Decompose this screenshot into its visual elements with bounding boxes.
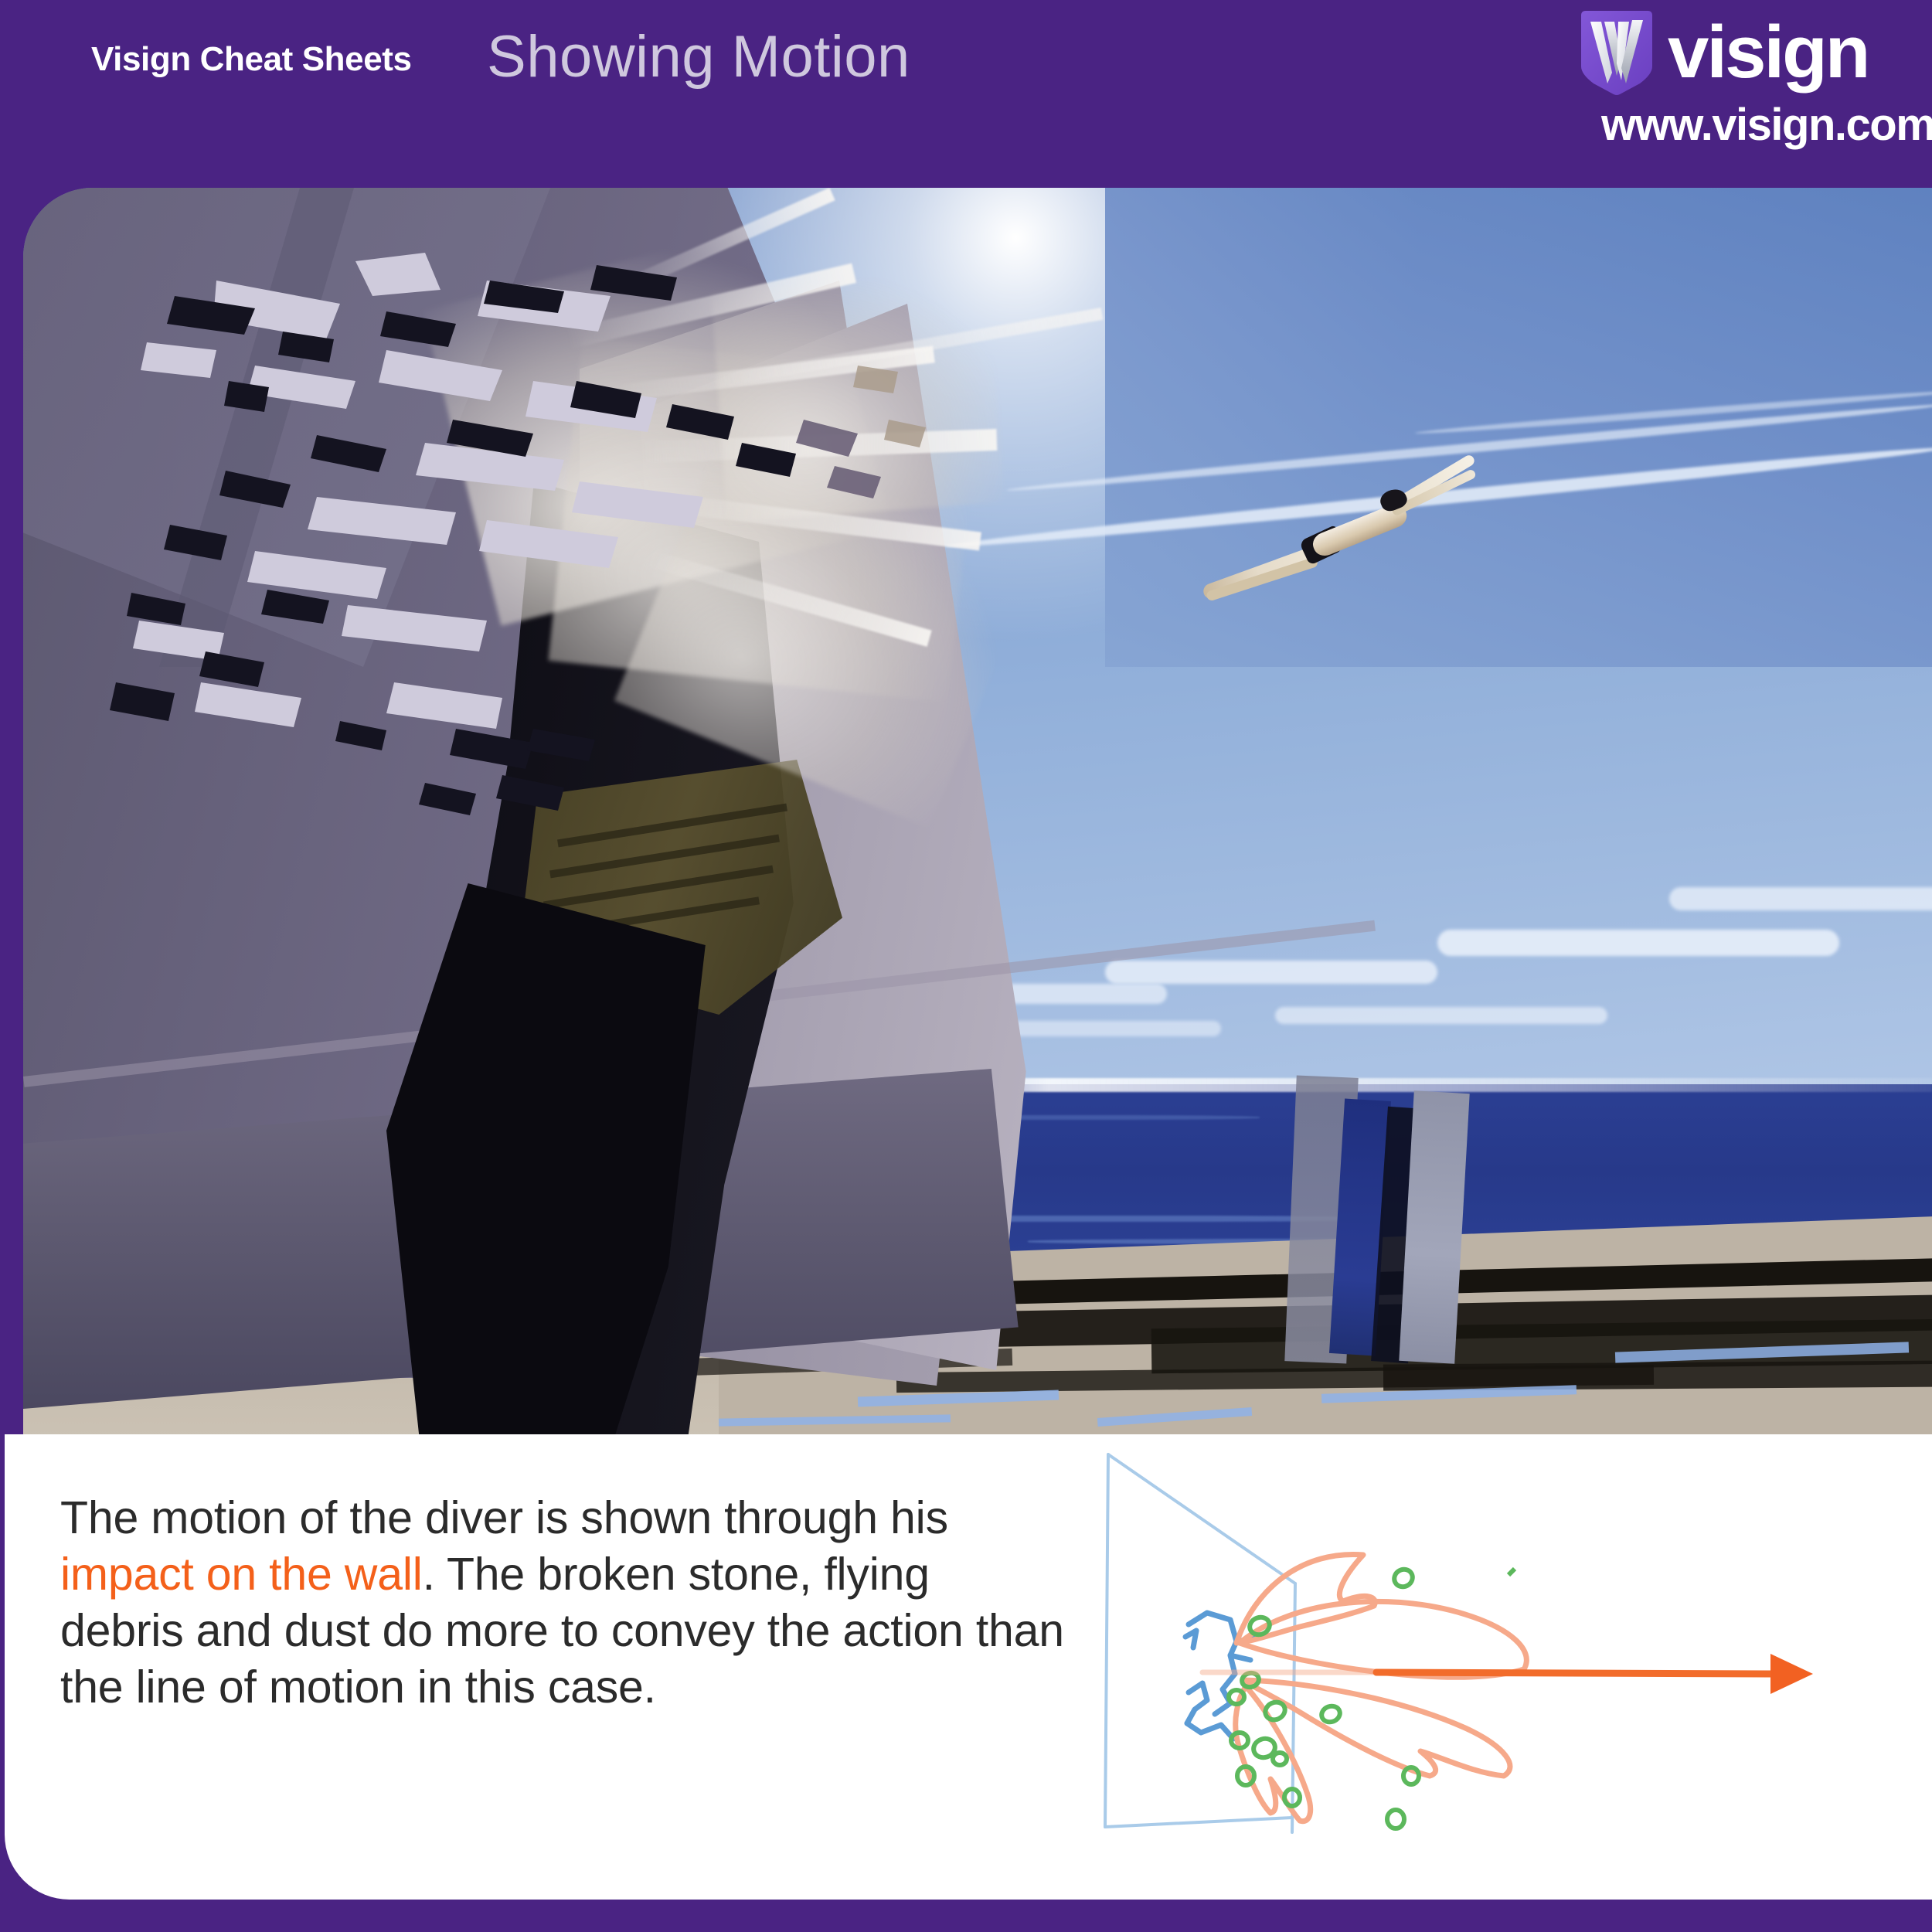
debris-splash <box>1236 1554 1527 1821</box>
brand-label: Visign Cheat Sheets <box>91 40 412 79</box>
ground-shadow-bar <box>1383 1360 1932 1390</box>
flying-debris-group <box>23 188 1182 961</box>
page-header: Visign Cheat Sheets Showing Motion <box>0 0 1932 188</box>
logo-wordmark: visign <box>1668 15 1868 90</box>
impact-motion-diagram <box>1071 1448 1929 1889</box>
caption-card: The motion of the diver is shown through… <box>5 1434 1932 1900</box>
logo-url: www.visign.com <box>1601 99 1932 151</box>
cloud-icon <box>1437 930 1839 956</box>
cloud-icon <box>989 1021 1221 1036</box>
cloud-icon <box>1275 1007 1607 1024</box>
wall-outline <box>1105 1454 1295 1832</box>
page-title: Showing Motion <box>487 23 910 90</box>
caption-highlight: impact on the wall <box>60 1549 423 1600</box>
artwork-illustration <box>23 188 1932 1434</box>
artwork-panel <box>23 188 1932 1434</box>
caption-part1: The motion of the diver is shown through… <box>60 1492 948 1543</box>
cloud-icon <box>1669 887 1932 910</box>
cloud-icon <box>1105 961 1437 984</box>
caption-text: The motion of the diver is shown through… <box>60 1490 1065 1715</box>
footer-strip <box>0 1900 1932 1932</box>
visign-shield-logo-icon <box>1578 9 1655 96</box>
logo-block[interactable]: visign www.visign.com <box>1578 8 1910 143</box>
logo-row: visign <box>1578 8 1868 97</box>
